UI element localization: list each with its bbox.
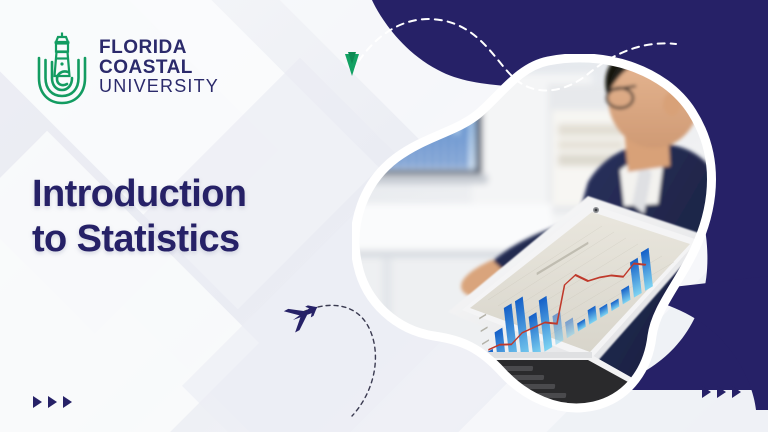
play-arrow-icon xyxy=(717,386,726,398)
brand-name-line1: FLORIDA xyxy=(99,38,219,57)
play-arrow-icon xyxy=(702,386,711,398)
brand-logo-text: FLORIDA COASTAL UNIVERSITY xyxy=(99,38,219,95)
page-title: Introduction to Statistics xyxy=(32,172,246,262)
brand-name-line3: UNIVERSITY xyxy=(99,77,219,95)
arrows-left xyxy=(33,396,72,408)
brand-name-line2: COASTAL xyxy=(99,58,219,77)
hero-photo-blob xyxy=(352,54,724,414)
hero-photo xyxy=(352,54,724,414)
title-slide: FLORIDA COASTAL UNIVERSITY Introduction … xyxy=(0,0,768,432)
brand-logo[interactable]: FLORIDA COASTAL UNIVERSITY xyxy=(36,28,219,106)
arrows-right xyxy=(702,386,741,398)
lighthouse-wave-icon xyxy=(36,28,88,106)
play-arrow-icon xyxy=(63,396,72,408)
page-title-line2: to Statistics xyxy=(32,217,246,262)
play-arrow-icon xyxy=(732,386,741,398)
play-arrow-icon xyxy=(48,396,57,408)
play-arrow-icon xyxy=(33,396,42,408)
page-title-line1: Introduction xyxy=(32,172,246,217)
